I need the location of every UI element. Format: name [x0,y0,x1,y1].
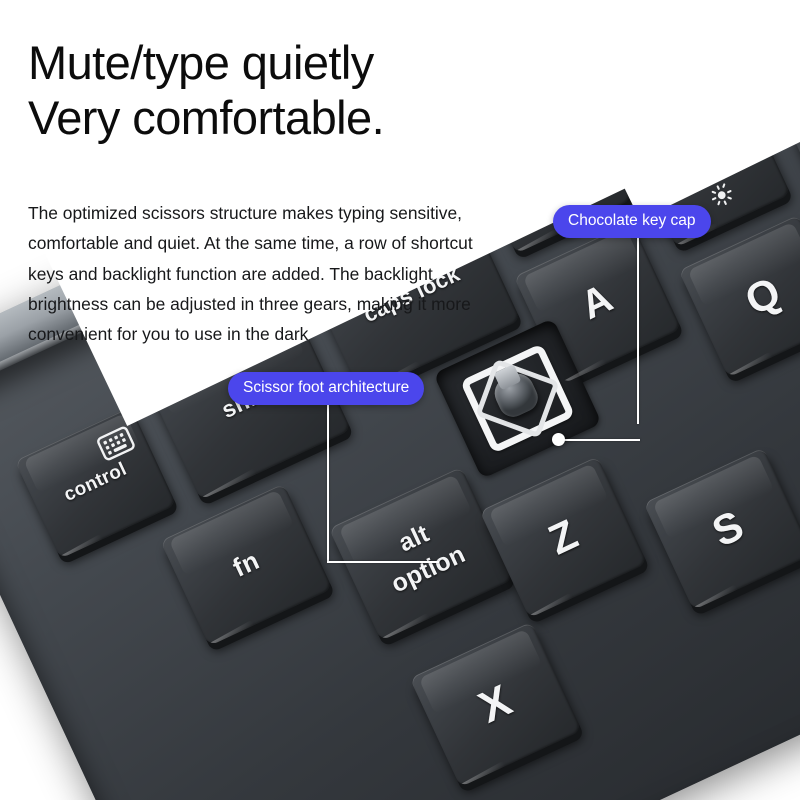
leader-line-scissor-foot-horizontal [327,554,445,570]
key-control[interactable]: control [15,407,177,559]
keyboard-backlight-icon [95,425,137,463]
key-z[interactable]: Z [480,456,648,618]
callout-chocolate-key-cap[interactable]: Chocolate key cap [553,205,711,238]
key-q[interactable]: Q [679,215,800,378]
headline-line-1: Mute/type quietly [28,36,498,91]
leader-segment-vertical [327,398,329,562]
key-s[interactable]: S [644,447,800,610]
key-q-label: Q [739,269,788,323]
product-marketing-image: control [0,0,800,800]
key-x[interactable]: X [410,622,582,787]
body-paragraph: The optimized scissors structure makes t… [28,198,498,349]
leader-endpoint-dot [552,433,565,446]
key-fn[interactable]: fn [160,483,332,646]
key-x-label: X [472,677,519,731]
leader-line-chocolate-key-cap-horizontal [548,432,640,448]
key-a-label: A [575,278,619,328]
leader-line-chocolate-key-cap [630,228,646,442]
key-control-label: control [61,460,130,506]
key-z-label: Z [542,512,584,563]
key-fn-label: fn [229,547,264,582]
leader-segment-vertical [637,228,639,424]
leader-segment-horizontal [564,439,640,441]
headline-line-2: Very comfortable. [28,91,498,146]
leader-line-scissor-foot [320,398,336,570]
key-s-label: S [706,503,751,555]
callout-scissor-foot-architecture[interactable]: Scissor foot architecture [228,372,424,405]
page-title: Mute/type quietly Very comfortable. [28,36,498,146]
leader-segment-horizontal [327,561,439,563]
